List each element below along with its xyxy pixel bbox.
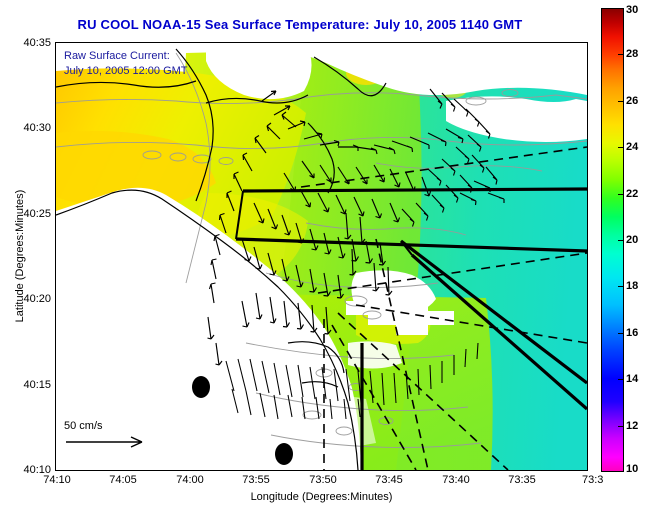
x-tick-7: 73:35 <box>508 474 536 486</box>
y-tick-1: 40:30 <box>23 122 51 134</box>
x-tick-5: 73:45 <box>375 474 403 486</box>
mask-top-right-sliver <box>556 43 587 89</box>
sst-field-svg <box>56 43 587 470</box>
scale-legend-label: 50 cm/s <box>64 420 156 432</box>
station-marker-2 <box>275 443 293 465</box>
x-tick-8: 73:3 <box>582 474 603 486</box>
x-tick-3: 73:55 <box>242 474 270 486</box>
annotation-line-2: July 10, 2005 12:00 GMT <box>64 64 188 79</box>
colorbar-tick-26: 26 <box>626 95 638 107</box>
x-axis-title: Longitude (Degrees:Minutes) <box>55 491 588 503</box>
figure-title: RU COOL NOAA-15 Sea Surface Temperature:… <box>0 17 600 32</box>
y-axis-title: Latitude (Degrees:Minutes) <box>14 156 26 356</box>
colorbar-tick-24: 24 <box>626 141 638 153</box>
colorbar-tick-22: 22 <box>626 188 638 200</box>
x-tick-1: 74:05 <box>109 474 137 486</box>
annotation-line-1: Raw Surface Current: <box>64 49 188 64</box>
scale-legend: 50 cm/s <box>64 420 156 455</box>
colorbar-tick-30: 30 <box>626 4 638 16</box>
sst-map-figure: RU COOL NOAA-15 Sea Surface Temperature:… <box>0 0 651 518</box>
colorbar-tick-18: 18 <box>626 280 638 292</box>
x-tick-0: 74:10 <box>43 474 71 486</box>
colorbar-tick-28: 28 <box>626 48 638 60</box>
colorbar-tick-16: 16 <box>626 327 638 339</box>
y-tick-4: 40:15 <box>23 379 51 391</box>
x-tick-4: 73:50 <box>309 474 337 486</box>
colorbar-tick-12: 12 <box>626 420 638 432</box>
y-tick-2: 40:25 <box>23 208 51 220</box>
raw-current-annotation: Raw Surface Current: July 10, 2005 12:00… <box>64 49 188 79</box>
scale-arrow-icon <box>64 432 156 450</box>
colorbar[interactable]: 30 28 26 24 22 20 18 16 14 12 10 <box>601 8 624 472</box>
map-raster: Raw Surface Current: July 10, 2005 12:00… <box>56 43 587 470</box>
y-tick-0: 40:35 <box>23 37 51 49</box>
colorbar-tick-14: 14 <box>626 373 638 385</box>
y-tick-3: 40:20 <box>23 293 51 305</box>
map-plot-area[interactable]: Raw Surface Current: July 10, 2005 12:00… <box>55 42 588 471</box>
colorbar-tick-10: 10 <box>626 463 638 475</box>
station-marker-1 <box>192 376 210 398</box>
x-tick-2: 74:00 <box>176 474 204 486</box>
x-tick-6: 73:40 <box>442 474 470 486</box>
colorbar-tick-20: 20 <box>626 234 638 246</box>
